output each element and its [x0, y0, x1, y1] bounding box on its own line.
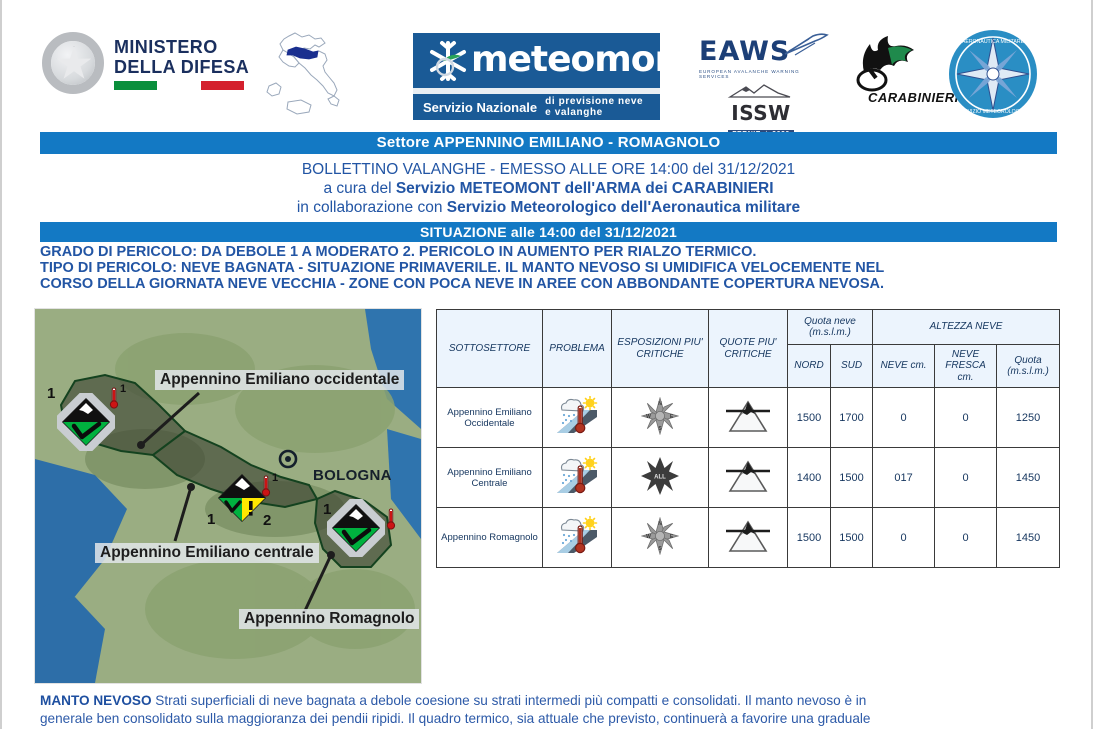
- col-quota-neve-group: Quota neve (m.s.l.m.): [788, 310, 873, 345]
- cell-sottosettore: Appennino Romagnolo: [437, 508, 543, 568]
- cell-problema: [543, 448, 612, 508]
- col-neve-cm: NEVE cm.: [873, 345, 935, 388]
- manto-nevoso-line-2: generale ben consolidato sulla maggioran…: [40, 710, 1057, 728]
- cell-quota-mslm: 1250: [997, 388, 1060, 448]
- subsector-table: SOTTOSETTORE PROBLEMA ESPOSIZIONI PIU' C…: [436, 309, 1060, 568]
- col-sud: SUD: [831, 345, 873, 388]
- mountain-altitude-band-icon: [722, 518, 774, 557]
- bulletin-subheader: BOLLETTINO VALANGHE - EMESSO ALLE ORE 14…: [40, 160, 1057, 217]
- issw-wordmark: ISSW: [724, 103, 798, 123]
- aeronautica-ring-text: AERONAUTICA MILITARE: [962, 39, 1025, 45]
- tipo-di-pericolo-line-2: CORSO DELLA GIORNATA NEVE VECCHIA - ZONE…: [40, 276, 1057, 292]
- meteomont-servizio-label: Servizio Nazionale: [423, 100, 537, 115]
- cell-sottosettore: Appennino Emiliano Centrale: [437, 448, 543, 508]
- compass-rose-all-aspects-icon: NESW: [641, 397, 679, 438]
- table-row[interactable]: Appennino Emiliano Centrale ALL 14001500…: [437, 448, 1060, 508]
- subheader-line-2: a cura del Servizio METEOMONT dell'ARMA …: [40, 179, 1057, 198]
- cell-sottosettore: Appennino Emiliano Occidentale: [437, 388, 543, 448]
- cell-neve-cm: 0: [873, 508, 935, 568]
- republic-emblem-icon: [42, 32, 104, 94]
- snowflake-icon: [425, 39, 471, 83]
- difesa-label: DELLA DIFESA: [114, 57, 249, 77]
- cell-problema: [543, 388, 612, 448]
- settore-banner: Settore APPENNINO EMILIANO - ROMAGNOLO: [40, 132, 1057, 154]
- mountain-altitude-band-icon: [722, 458, 774, 497]
- servizio-meteo-ring-text: SERVIZIO METEOROLOGICO: [957, 109, 1029, 115]
- col-nord: NORD: [788, 345, 831, 388]
- compass-rose-filled-icon: ALL: [641, 457, 679, 498]
- svg-text:N: N: [658, 401, 662, 407]
- manto-nevoso-text: MANTO NEVOSO Strati superficiali di neve…: [40, 692, 1057, 728]
- cell-nord: 1500: [788, 508, 831, 568]
- col-quote: QUOTE PIU' CRITICHE: [709, 310, 788, 388]
- subheader-line-1: BOLLETTINO VALANGHE - EMESSO ALLE ORE 14…: [40, 160, 1057, 179]
- svg-text:W: W: [646, 414, 651, 420]
- danger-icon-romagnolo: [327, 499, 385, 557]
- cell-quote: [709, 508, 788, 568]
- wet-snow-thermometer-icon: [554, 456, 600, 499]
- col-problema: PROBLEMA: [543, 310, 612, 388]
- wet-snow-thermometer-icon: [554, 516, 600, 559]
- mountain-altitude-band-icon: [722, 398, 774, 437]
- map-city-bologna: BOLOGNA: [313, 467, 392, 484]
- danger-icon-occidentale: [57, 393, 115, 451]
- danger-level-centrale-high: 2: [263, 512, 271, 529]
- thermometer-icon-centrale: [261, 475, 271, 497]
- cell-quote: [709, 448, 788, 508]
- danger-level-occidentale: 1: [47, 385, 55, 402]
- mountain-range-icon: [724, 84, 798, 98]
- cell-neve-cm: 0: [873, 388, 935, 448]
- svg-text:ALL: ALL: [654, 475, 666, 481]
- col-sottosettore: SOTTOSETTORE: [437, 310, 543, 388]
- col-neve-fresca-cm: NEVE FRESCA cm.: [935, 345, 997, 388]
- italian-flag-icon: [114, 81, 244, 90]
- cell-neve-fresca-cm: 0: [935, 388, 997, 448]
- wet-snow-thermometer-icon: [554, 396, 600, 439]
- cell-nord: 1400: [788, 448, 831, 508]
- italy-map-icon: [255, 30, 345, 116]
- situazione-text: GRADO DI PERICOLO: DA DEBOLE 1 A MODERAT…: [40, 244, 1057, 292]
- cell-sud: 1500: [831, 508, 873, 568]
- cell-neve-fresca-cm: 0: [935, 448, 997, 508]
- table-row[interactable]: Appennino Emiliano Occidentale NESW: [437, 388, 1060, 448]
- thermometer-icon-occidentale: [109, 387, 119, 409]
- table-row[interactable]: Appennino Romagnolo NESW 15001500: [437, 508, 1060, 568]
- bulletin-page: MINISTERO DELLA DIFESA: [0, 0, 1093, 729]
- col-quota-mslm: Quota (m.s.l.m.): [997, 345, 1060, 388]
- grado-di-pericolo-line: GRADO DI PERICOLO: DA DEBOLE 1 A MODERAT…: [40, 244, 1057, 260]
- cell-esposizioni: NESW: [612, 388, 709, 448]
- cell-sud: 1500: [831, 448, 873, 508]
- meteomont-wordmark: meteomont: [471, 41, 660, 79]
- thermometer-icon-romagnolo: [386, 508, 396, 530]
- meteomont-sub-line2: e valanghe: [545, 107, 603, 118]
- cell-problema: [543, 508, 612, 568]
- cell-sud: 1700: [831, 388, 873, 448]
- cell-neve-cm: 017: [873, 448, 935, 508]
- manto-nevoso-line-1: MANTO NEVOSO Strati superficiali di neve…: [40, 692, 1057, 710]
- situazione-banner: SITUAZIONE alle 14:00 del 31/12/2021: [40, 222, 1057, 242]
- aeronautica-militare-logo: AERONAUTICA MILITARE SERVIZIO METEOROLOG…: [947, 28, 1039, 120]
- compass-rose-all-aspects-icon: NESW: [641, 517, 679, 558]
- cell-nord: 1500: [788, 388, 831, 448]
- carabinieri-wordmark: CARABINIERI: [868, 90, 959, 105]
- issw-logo: ISSW FERNIE ✦ 2020: [724, 84, 798, 122]
- danger-map[interactable]: 1 1 1 2 1: [34, 308, 422, 684]
- cell-neve-fresca-cm: 0: [935, 508, 997, 568]
- cell-quota-mslm: 1450: [997, 448, 1060, 508]
- cell-esposizioni: NESW: [612, 508, 709, 568]
- col-altezza-neve-group: ALTEZZA NEVE: [873, 310, 1060, 345]
- meteomont-sub-line1: di previsione neve: [545, 96, 643, 107]
- logo-bar: MINISTERO DELLA DIFESA: [2, 0, 1093, 126]
- thermometer-mark-occidentale: 1: [120, 383, 126, 395]
- eaws-subtitle: EUROPEAN AVALANCHE WARNING SERVICES: [699, 69, 829, 79]
- svg-text:N: N: [658, 521, 662, 527]
- cell-esposizioni: ALL: [612, 448, 709, 508]
- map-label-centrale: Appennino Emiliano centrale: [95, 543, 319, 563]
- svg-text:W: W: [646, 534, 651, 540]
- ministero-della-difesa-logo: MINISTERO DELLA DIFESA: [42, 32, 267, 94]
- eaws-logo: EAWS EUROPEAN AVALANCHE WARNING SERVICES: [699, 36, 829, 72]
- table-body: Appennino Emiliano Occidentale NESW: [437, 388, 1060, 568]
- col-esposizioni: ESPOSIZIONI PIU' CRITICHE: [612, 310, 709, 388]
- subheader-line-3: in collaborazione con Servizio Meteorolo…: [40, 198, 1057, 217]
- avalanche-slope-icon: [783, 32, 829, 58]
- cell-quote: [709, 388, 788, 448]
- cell-quota-mslm: 1450: [997, 508, 1060, 568]
- map-label-romagnolo: Appennino Romagnolo: [239, 609, 419, 629]
- thermometer-mark-centrale: 1: [272, 472, 278, 484]
- tipo-di-pericolo-line-1: TIPO DI PERICOLO: NEVE BAGNATA - SITUAZI…: [40, 260, 1057, 276]
- meteomont-logo: meteomont Servizio Nazionale di previsio…: [413, 33, 660, 120]
- danger-level-romagnolo: 1: [323, 501, 331, 518]
- ministero-label: MINISTERO: [114, 37, 249, 57]
- map-label-occidentale: Appennino Emiliano occidentale: [155, 370, 404, 390]
- table-header-row-1: SOTTOSETTORE PROBLEMA ESPOSIZIONI PIU' C…: [437, 310, 1060, 345]
- danger-level-centrale-low: 1: [207, 511, 215, 528]
